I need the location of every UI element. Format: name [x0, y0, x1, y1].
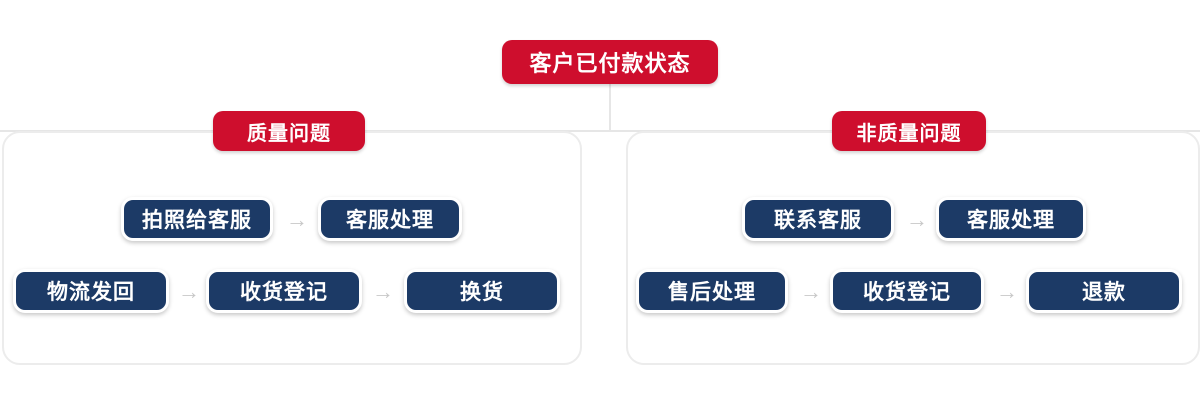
process-node[interactable]: 退款	[1026, 269, 1182, 313]
process-node[interactable]: 物流发回	[13, 269, 169, 313]
connector-trunk-vertical	[609, 84, 611, 132]
branch-label-quality[interactable]: 质量问题	[213, 111, 365, 151]
arrow-right-icon: →	[178, 281, 200, 303]
arrow-right-icon: →	[996, 281, 1018, 303]
process-node[interactable]: 客服处理	[318, 197, 462, 241]
process-node[interactable]: 客服处理	[936, 197, 1086, 241]
process-node[interactable]: 换货	[404, 269, 560, 313]
root-status-badge[interactable]: 客户已付款状态	[502, 40, 718, 84]
process-node[interactable]: 拍照给客服	[121, 197, 273, 241]
branch-panel-non-quality	[626, 131, 1200, 365]
process-node[interactable]: 售后处理	[636, 269, 788, 313]
flowchart-canvas: 客户已付款状态 质量问题 非质量问题 拍照给客服 → 客服处理 物流发回 → 收…	[0, 0, 1200, 400]
branch-panel-quality	[2, 131, 582, 365]
process-node[interactable]: 收货登记	[830, 269, 984, 313]
process-node[interactable]: 联系客服	[742, 197, 894, 241]
branch-label-non-quality[interactable]: 非质量问题	[832, 111, 986, 151]
process-node[interactable]: 收货登记	[206, 269, 362, 313]
arrow-right-icon: →	[372, 281, 394, 303]
arrow-right-icon: →	[800, 281, 822, 303]
arrow-right-icon: →	[906, 209, 928, 231]
arrow-right-icon: →	[286, 209, 308, 231]
